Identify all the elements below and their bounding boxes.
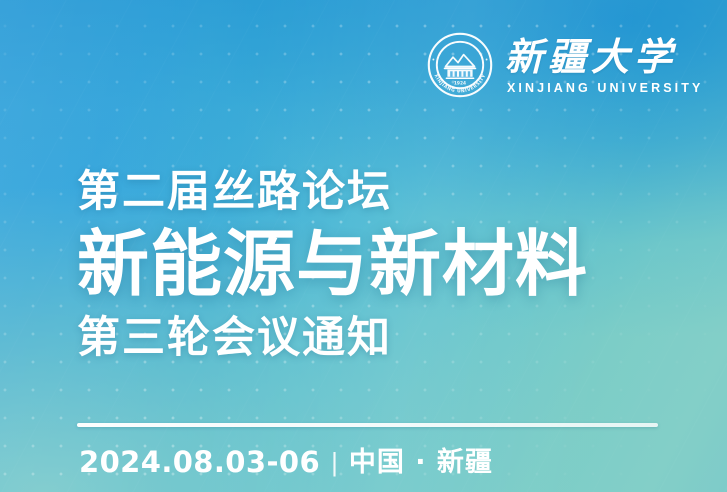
- conference-poster: 新疆大学 XINJIANG UNIVERSITY 1924: [0, 0, 727, 492]
- headline-forum-name: 第二届丝路论坛: [77, 168, 677, 216]
- event-date: 2024.08.03-06: [79, 448, 320, 477]
- horizontal-divider: [77, 423, 658, 427]
- headline-notice-round: 第三轮会议通知: [77, 314, 677, 362]
- university-name-cn: 新疆大学: [505, 38, 703, 77]
- university-name-en: XINJIANG UNIVERSITY: [505, 82, 703, 95]
- svg-text:1924: 1924: [454, 81, 466, 87]
- meta-separator: |: [331, 449, 338, 475]
- footer-meta: 2024.08.03-06 | 中国 · 新疆: [79, 448, 493, 477]
- event-location: 中国 · 新疆: [349, 449, 493, 476]
- headline-block: 第二届丝路论坛 新能源与新材料 第三轮会议通知: [77, 168, 677, 363]
- university-seal-icon: 新疆大学 XINJIANG UNIVERSITY 1924: [427, 32, 493, 98]
- headline-main-title: 新能源与新材料: [77, 225, 677, 304]
- university-logo-lockup: 新疆大学 XINJIANG UNIVERSITY 1924: [427, 32, 703, 98]
- university-name-block: 新疆大学 XINJIANG UNIVERSITY: [505, 36, 703, 94]
